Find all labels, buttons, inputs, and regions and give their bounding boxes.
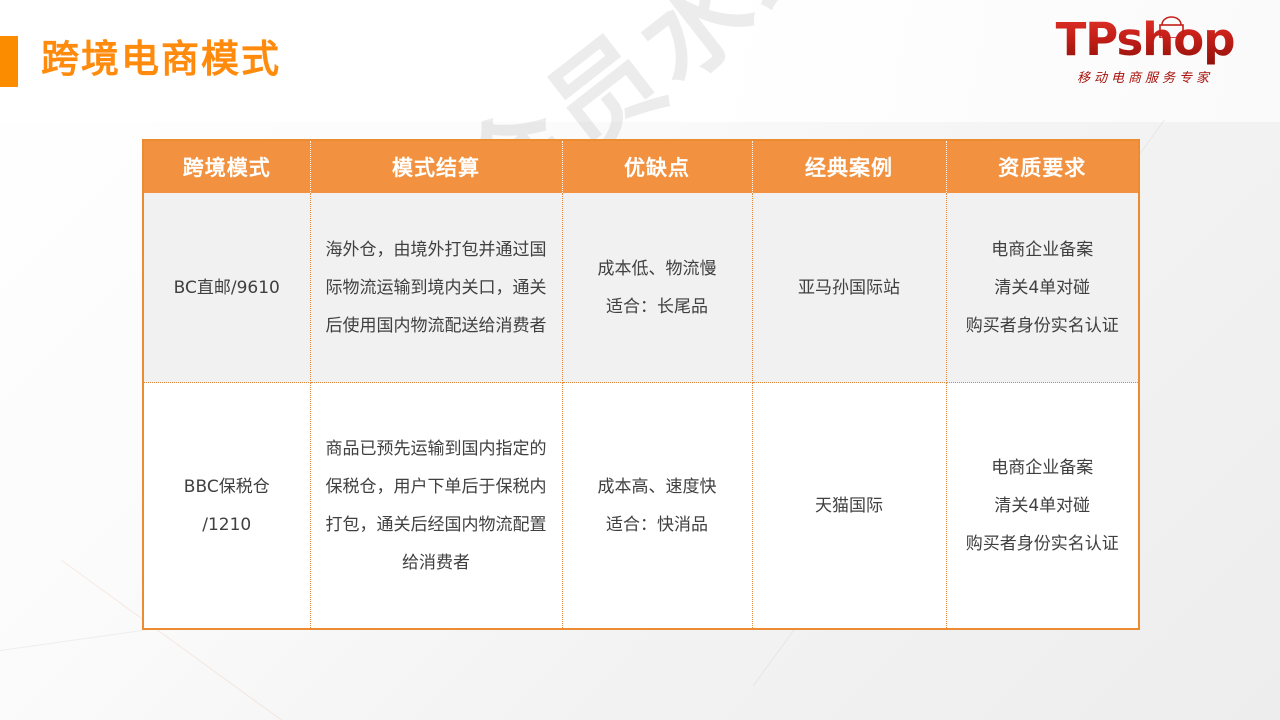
qualification-line: 购买者身份实名认证 xyxy=(959,525,1127,563)
table-row: BBC保税仓 /1210 商品已预先运输到国内指定的保税仓，用户下单后于保税内打… xyxy=(144,383,1138,628)
qualification-line: 购买者身份实名认证 xyxy=(959,307,1127,345)
cross-border-modes-table: 跨境模式 模式结算 优缺点 经典案例 资质要求 BC直邮/9610 海外仓，由境… xyxy=(142,139,1140,630)
cell-case: 亚马孙国际站 xyxy=(752,193,946,383)
brand-logo: TPshop 移动电商服务专家 xyxy=(1040,14,1250,98)
qualification-line: 电商企业备案 xyxy=(959,231,1127,269)
table-row: BC直邮/9610 海外仓，由境外打包并通过国际物流运输到境内关口，通关后使用国… xyxy=(144,193,1138,383)
page-title: 跨境电商模式 xyxy=(41,30,281,88)
slide-canvas: 跨境电商模式 TPshop 移动电商服务专家 非会员水印 跨境模式 模式结算 优… xyxy=(0,0,1280,720)
column-header-case: 经典案例 xyxy=(752,141,946,193)
mode-line: BBC保税仓 xyxy=(156,468,298,506)
column-header-qualification: 资质要求 xyxy=(946,141,1138,193)
qualification-line: 清关4单对碰 xyxy=(959,487,1127,525)
cell-pros-cons: 成本低、物流慢 适合：长尾品 xyxy=(562,193,752,383)
column-header-settlement: 模式结算 xyxy=(310,141,562,193)
column-header-mode: 跨境模式 xyxy=(144,141,310,193)
cell-settlement: 海外仓，由境外打包并通过国际物流运输到境内关口，通关后使用国内物流配送给消费者 xyxy=(310,193,562,383)
pros-cons-line: 适合：快消品 xyxy=(575,506,740,544)
cell-settlement: 商品已预先运输到国内指定的保税仓，用户下单后于保税内打包，通关后经国内物流配置给… xyxy=(310,383,562,628)
title-accent-bar xyxy=(0,36,18,87)
logo-tagline: 移动电商服务专家 xyxy=(1040,67,1250,86)
logo-wordmark: TPshop xyxy=(1040,14,1250,66)
qualification-line: 电商企业备案 xyxy=(959,449,1127,487)
qualification-line: 清关4单对碰 xyxy=(959,269,1127,307)
pros-cons-line: 成本低、物流慢 xyxy=(575,250,740,288)
table: 跨境模式 模式结算 优缺点 经典案例 资质要求 BC直邮/9610 海外仓，由境… xyxy=(144,141,1138,628)
pros-cons-line: 适合：长尾品 xyxy=(575,288,740,326)
cell-case: 天猫国际 xyxy=(752,383,946,628)
cell-qualification: 电商企业备案 清关4单对碰 购买者身份实名认证 xyxy=(946,383,1138,628)
cell-mode: BC直邮/9610 xyxy=(144,193,310,383)
pros-cons-line: 成本高、速度快 xyxy=(575,468,740,506)
cell-mode: BBC保税仓 /1210 xyxy=(144,383,310,628)
cell-qualification: 电商企业备案 清关4单对碰 购买者身份实名认证 xyxy=(946,193,1138,383)
column-header-pros-cons: 优缺点 xyxy=(562,141,752,193)
mode-line: /1210 xyxy=(156,506,298,544)
table-header-row: 跨境模式 模式结算 优缺点 经典案例 资质要求 xyxy=(144,141,1138,193)
cell-pros-cons: 成本高、速度快 适合：快消品 xyxy=(562,383,752,628)
